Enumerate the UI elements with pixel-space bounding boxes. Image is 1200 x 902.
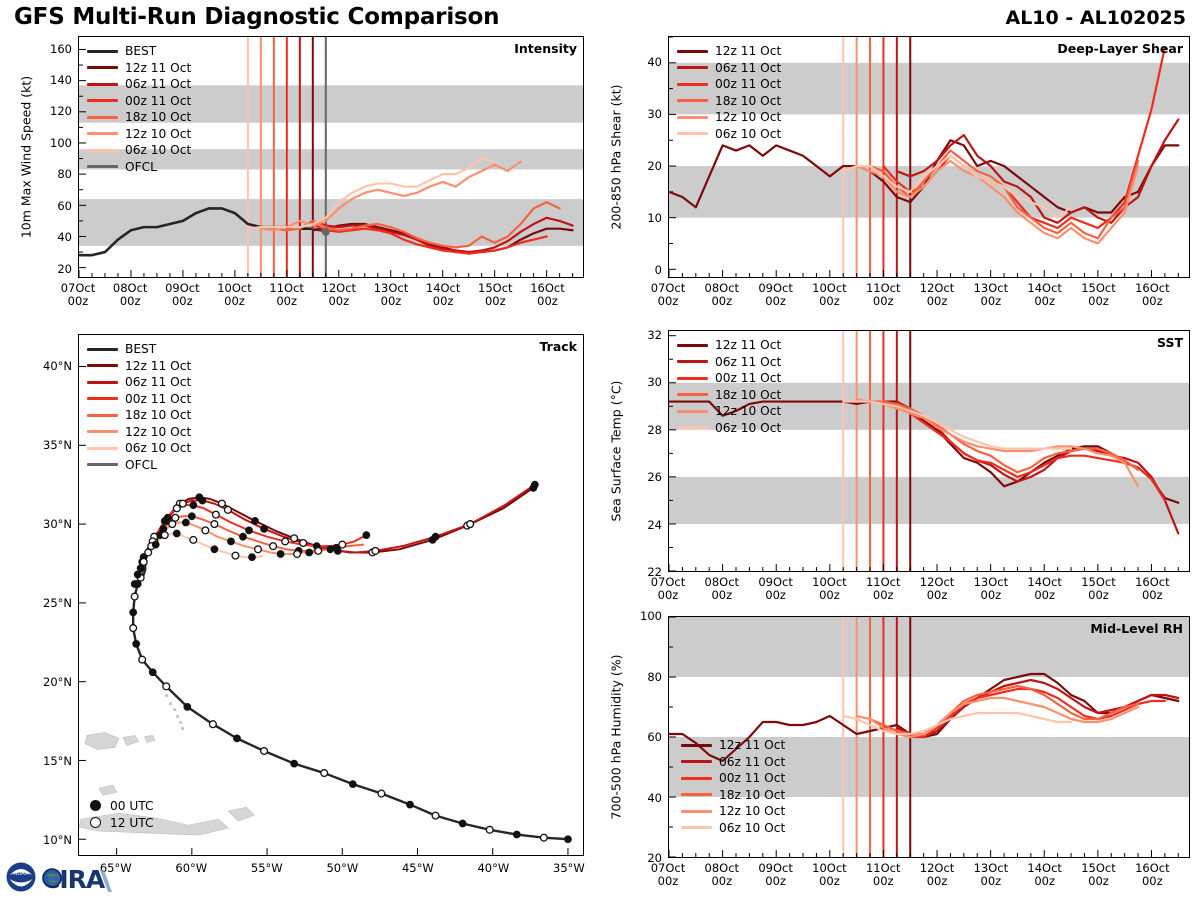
legend-swatch (681, 826, 712, 829)
legend-swatch (681, 760, 712, 763)
page-title: GFS Multi-Run Diagnostic Comparison (14, 4, 499, 30)
legend-item: 12z 11 Oct (87, 358, 191, 375)
x-tick-label: 15Oct00z (465, 282, 525, 308)
x-tick-label: 12Oct00z (907, 862, 967, 888)
legend-label: 06z 10 Oct (125, 143, 191, 157)
y-tick-label: 30 (624, 107, 662, 121)
legend-swatch (87, 414, 118, 417)
legend-swatch (677, 377, 708, 380)
y-axis-label: 700-500 hPa Humidity (%) (609, 654, 624, 819)
legend-item: 06z 11 Oct (677, 354, 781, 371)
y-tick-label: 160 (34, 42, 72, 56)
y-tick-label: 26 (624, 470, 662, 484)
legend-label: 12z 11 Oct (715, 44, 781, 58)
x-tick-label: 07Oct00z (48, 282, 108, 308)
legend-swatch (681, 793, 712, 796)
legend-item: 12z 11 Oct (681, 737, 785, 754)
x-tick-label: 11Oct00z (853, 282, 913, 308)
x-tick-label: 08Oct00z (692, 862, 752, 888)
legend-swatch (677, 344, 708, 347)
legend-item: 00z 11 Oct (677, 76, 781, 93)
y-axis-label: Sea Surface Temp (°C) (609, 381, 624, 522)
legend-swatch (87, 463, 118, 466)
legend-label: 00z 11 Oct (719, 771, 785, 785)
x-tick-label: 13Oct00z (961, 862, 1021, 888)
legend-swatch (677, 360, 708, 363)
legend-swatch (87, 149, 118, 152)
y-tick-label: 100 (34, 136, 72, 150)
legend-swatch (681, 744, 712, 747)
track-x-tick-label: 60°W (161, 862, 221, 875)
x-tick-label: 07Oct00z (638, 576, 698, 602)
x-tick-label: 16Oct00z (1122, 282, 1182, 308)
marker-dot-filled (90, 800, 101, 811)
legend-label: 18z 10 Oct (125, 408, 191, 422)
legend-label: 06z 10 Oct (719, 821, 785, 835)
y-tick-label: 24 (624, 518, 662, 532)
storm-id-label: AL10 - AL102025 (1006, 7, 1187, 29)
legend-swatch (87, 381, 118, 384)
marker-legend-label: 00 UTC (110, 799, 154, 813)
legend-swatch (677, 50, 708, 53)
legend-item: BEST (87, 43, 191, 60)
cira-logo-icon: CIRA (42, 865, 112, 894)
legend-label: 12z 10 Oct (715, 110, 781, 124)
legend-shear: 12z 11 Oct06z 11 Oct00z 11 Oct18z 10 Oct… (677, 43, 781, 142)
x-tick-label: 11Oct00z (853, 576, 913, 602)
track-y-tick-label: 35°N (24, 438, 72, 452)
y-tick-label: 40 (624, 791, 662, 805)
legend-label: 06z 11 Oct (125, 77, 191, 91)
y-tick-label: 40 (34, 230, 72, 244)
legend-item: 18z 10 Oct (677, 93, 781, 110)
y-axis-label: 200-850 hPa Shear (kt) (609, 85, 624, 230)
y-tick-label: 100 (624, 609, 662, 623)
legend-label: 00z 11 Oct (715, 77, 781, 91)
legend-item: 00z 11 Oct (681, 770, 785, 787)
legend-label: 00z 11 Oct (125, 94, 191, 108)
legend-swatch (677, 83, 708, 86)
legend-label: OFCL (125, 160, 157, 174)
y-tick-label: 20 (624, 159, 662, 173)
legend-item: 06z 10 Oct (677, 420, 781, 437)
legend-swatch (87, 397, 118, 400)
x-tick-label: 07Oct00z (638, 862, 698, 888)
legend-item: 12z 10 Oct (87, 126, 191, 143)
legend-swatch (87, 348, 118, 351)
legend-label: 12z 11 Oct (125, 359, 191, 373)
panel-rh: Mid-Level RH 12z 11 Oct06z 11 Oct00z 11 … (668, 616, 1190, 858)
legend-label: 06z 11 Oct (715, 61, 781, 75)
x-tick-label: 10Oct00z (799, 282, 859, 308)
track-x-tick-label: 45°W (388, 862, 448, 875)
y-tick-label: 32 (624, 328, 662, 342)
x-tick-label: 13Oct00z (361, 282, 421, 308)
legend-sst: 12z 11 Oct06z 11 Oct00z 11 Oct18z 10 Oct… (677, 337, 781, 436)
panel-title-shear: Deep-Layer Shear (1057, 41, 1183, 56)
legend-swatch (87, 430, 118, 433)
x-tick-label: 12Oct00z (907, 282, 967, 308)
y-tick-label: 60 (34, 199, 72, 213)
x-tick-label: 13Oct00z (961, 576, 1021, 602)
y-tick-label: 22 (624, 565, 662, 579)
legend-item: OFCL (87, 159, 191, 176)
y-tick-label: 10 (624, 211, 662, 225)
legend-swatch (677, 426, 708, 429)
y-tick-label: 80 (624, 670, 662, 684)
legend-swatch (87, 116, 118, 119)
x-tick-label: 15Oct00z (1069, 862, 1129, 888)
legend-item: 00z 11 Oct (87, 93, 191, 110)
legend-label: 12z 11 Oct (715, 338, 781, 352)
x-tick-label: 14Oct00z (1015, 282, 1075, 308)
x-tick-label: 09Oct00z (746, 282, 806, 308)
x-tick-label: 16Oct00z (517, 282, 577, 308)
legend-label: 00z 11 Oct (125, 392, 191, 406)
legend-label: 06z 11 Oct (715, 355, 781, 369)
legend-swatch (677, 410, 708, 413)
legend-item: 18z 10 Oct (87, 407, 191, 424)
panel-intensity: Intensity BEST12z 11 Oct06z 11 Oct00z 11… (78, 36, 584, 278)
y-tick-label: 30 (624, 375, 662, 389)
legend-label: 18z 10 Oct (715, 388, 781, 402)
legend-label: 12z 11 Oct (125, 61, 191, 75)
legend-item: 06z 11 Oct (87, 76, 191, 93)
track-x-tick-label: 50°W (312, 862, 372, 875)
legend-item: 12z 11 Oct (87, 60, 191, 77)
x-tick-label: 08Oct00z (100, 282, 160, 308)
x-tick-label: 16Oct00z (1122, 862, 1182, 888)
legend-swatch (87, 132, 118, 135)
x-tick-label: 08Oct00z (692, 576, 752, 602)
y-tick-label: 140 (34, 73, 72, 87)
legend-swatch (681, 777, 712, 780)
legend-item: 18z 10 Oct (681, 787, 785, 804)
legend-track-markers: 00 UTC12 UTC (87, 797, 154, 831)
x-tick-label: 11Oct00z (853, 862, 913, 888)
legend-label: 12z 10 Oct (719, 804, 785, 818)
x-tick-label: 09Oct00z (152, 282, 212, 308)
panel-shear: Deep-Layer Shear 12z 11 Oct06z 11 Oct00z… (668, 36, 1190, 278)
y-axis-label: 10m Max Wind Speed (kt) (19, 76, 34, 238)
track-x-tick-label: 55°W (237, 862, 297, 875)
track-y-tick-label: 15°N (24, 754, 72, 768)
noaa-cira-logo-svg: NOAA CIRA (4, 858, 139, 898)
legend-item: 00z 11 Oct (677, 370, 781, 387)
x-tick-label: 15Oct00z (1069, 576, 1129, 602)
legend-swatch (677, 66, 708, 69)
y-tick-label: 80 (34, 167, 72, 181)
legend-label: 06z 10 Oct (715, 421, 781, 435)
x-tick-label: 14Oct00z (1015, 576, 1075, 602)
legend-label: BEST (125, 342, 156, 356)
legend-label: 12z 11 Oct (719, 738, 785, 752)
x-tick-label: 09Oct00z (746, 576, 806, 602)
legend-track: BEST12z 11 Oct06z 11 Oct00z 11 Oct18z 10… (87, 341, 191, 473)
legend-rh: 12z 11 Oct06z 11 Oct00z 11 Oct18z 10 Oct… (681, 737, 785, 836)
panel-title-sst: SST (1157, 335, 1183, 350)
legend-item: 06z 11 Oct (87, 374, 191, 391)
legend-item: 12z 10 Oct (681, 803, 785, 820)
x-tick-label: 12Oct00z (309, 282, 369, 308)
legend-item: 18z 10 Oct (87, 109, 191, 126)
legend-item: OFCL (87, 457, 191, 474)
y-tick-label: 0 (624, 263, 662, 277)
track-x-tick-label: 40°W (463, 862, 523, 875)
x-tick-label: 08Oct00z (692, 282, 752, 308)
x-tick-label: 09Oct00z (746, 862, 806, 888)
logo-group: NOAA CIRA (4, 858, 139, 898)
y-tick-label: 60 (624, 730, 662, 744)
legend-swatch (87, 364, 118, 367)
panel-title-rh: Mid-Level RH (1090, 621, 1183, 636)
x-tick-label: 15Oct00z (1069, 282, 1129, 308)
panel-track: Track BEST12z 11 Oct06z 11 Oct00z 11 Oct… (78, 334, 584, 856)
legend-item: 06z 10 Oct (87, 142, 191, 159)
y-tick-label: 120 (34, 104, 72, 118)
track-y-tick-label: 25°N (24, 596, 72, 610)
y-tick-label: 20 (624, 851, 662, 865)
legend-item: 06z 10 Oct (677, 126, 781, 143)
track-y-tick-label: 30°N (24, 517, 72, 531)
legend-label: 06z 11 Oct (719, 755, 785, 769)
legend-swatch (677, 99, 708, 102)
legend-item: 18z 10 Oct (677, 387, 781, 404)
legend-item: 12z 11 Oct (677, 337, 781, 354)
x-tick-label: 10Oct00z (204, 282, 264, 308)
legend-label: 12z 10 Oct (715, 404, 781, 418)
legend-item: BEST (87, 341, 191, 358)
panel-title-intensity: Intensity (514, 41, 577, 56)
legend-label: 12z 10 Oct (125, 425, 191, 439)
legend-label: 06z 10 Oct (715, 127, 781, 141)
legend-item: 12z 10 Oct (87, 424, 191, 441)
legend-item: 06z 10 Oct (87, 440, 191, 457)
track-y-tick-label: 40°N (24, 359, 72, 373)
x-tick-label: 14Oct00z (1015, 862, 1075, 888)
track-y-tick-label: 10°N (24, 833, 72, 847)
legend-label: 12z 10 Oct (125, 127, 191, 141)
legend-label: 06z 11 Oct (125, 375, 191, 389)
legend-label: 18z 10 Oct (719, 788, 785, 802)
x-tick-label: 10Oct00z (799, 576, 859, 602)
x-tick-label: 07Oct00z (638, 282, 698, 308)
legend-swatch (681, 810, 712, 813)
legend-label: BEST (125, 44, 156, 58)
x-tick-label: 14Oct00z (413, 282, 473, 308)
legend-item: 06z 11 Oct (677, 60, 781, 77)
x-tick-label: 13Oct00z (961, 282, 1021, 308)
marker-legend-label: 12 UTC (110, 816, 154, 830)
legend-swatch (87, 165, 118, 168)
track-x-tick-label: 35°W (539, 862, 599, 875)
x-tick-label: 16Oct00z (1122, 576, 1182, 602)
legend-swatch (87, 66, 118, 69)
x-tick-label: 10Oct00z (799, 862, 859, 888)
legend-item: 12z 10 Oct (677, 109, 781, 126)
legend-swatch (87, 50, 118, 53)
y-tick-label: 20 (34, 262, 72, 276)
legend-item: 12z 11 Oct (677, 43, 781, 60)
track-y-tick-label: 20°N (24, 675, 72, 689)
y-tick-label: 28 (624, 423, 662, 437)
legend-item: 00z 11 Oct (87, 391, 191, 408)
x-tick-label: 12Oct00z (907, 576, 967, 602)
legend-label: 06z 10 Oct (125, 441, 191, 455)
legend-label: 00z 11 Oct (715, 371, 781, 385)
legend-swatch (87, 83, 118, 86)
y-tick-label: 40 (624, 55, 662, 69)
legend-label: OFCL (125, 458, 157, 472)
legend-item: 06z 10 Oct (681, 820, 785, 837)
legend-swatch (87, 447, 118, 450)
panel-sst: SST 12z 11 Oct06z 11 Oct00z 11 Oct18z 10… (668, 330, 1190, 572)
legend-swatch (87, 99, 118, 102)
legend-item: 12z 10 Oct (677, 403, 781, 420)
marker-legend-item: 00 UTC (87, 797, 154, 814)
legend-item: 06z 11 Oct (681, 754, 785, 771)
legend-intensity: BEST12z 11 Oct06z 11 Oct00z 11 Oct18z 10… (87, 43, 191, 175)
panel-title-track: Track (540, 339, 577, 354)
x-tick-label: 11Oct00z (257, 282, 317, 308)
legend-swatch (677, 116, 708, 119)
marker-legend-item: 12 UTC (87, 814, 154, 831)
legend-label: 18z 10 Oct (715, 94, 781, 108)
legend-label: 18z 10 Oct (125, 110, 191, 124)
svg-text:NOAA: NOAA (14, 871, 29, 877)
legend-swatch (677, 393, 708, 396)
legend-swatch (677, 132, 708, 135)
marker-dot-open (90, 817, 101, 828)
noaa-logo-icon: NOAA (7, 863, 36, 892)
